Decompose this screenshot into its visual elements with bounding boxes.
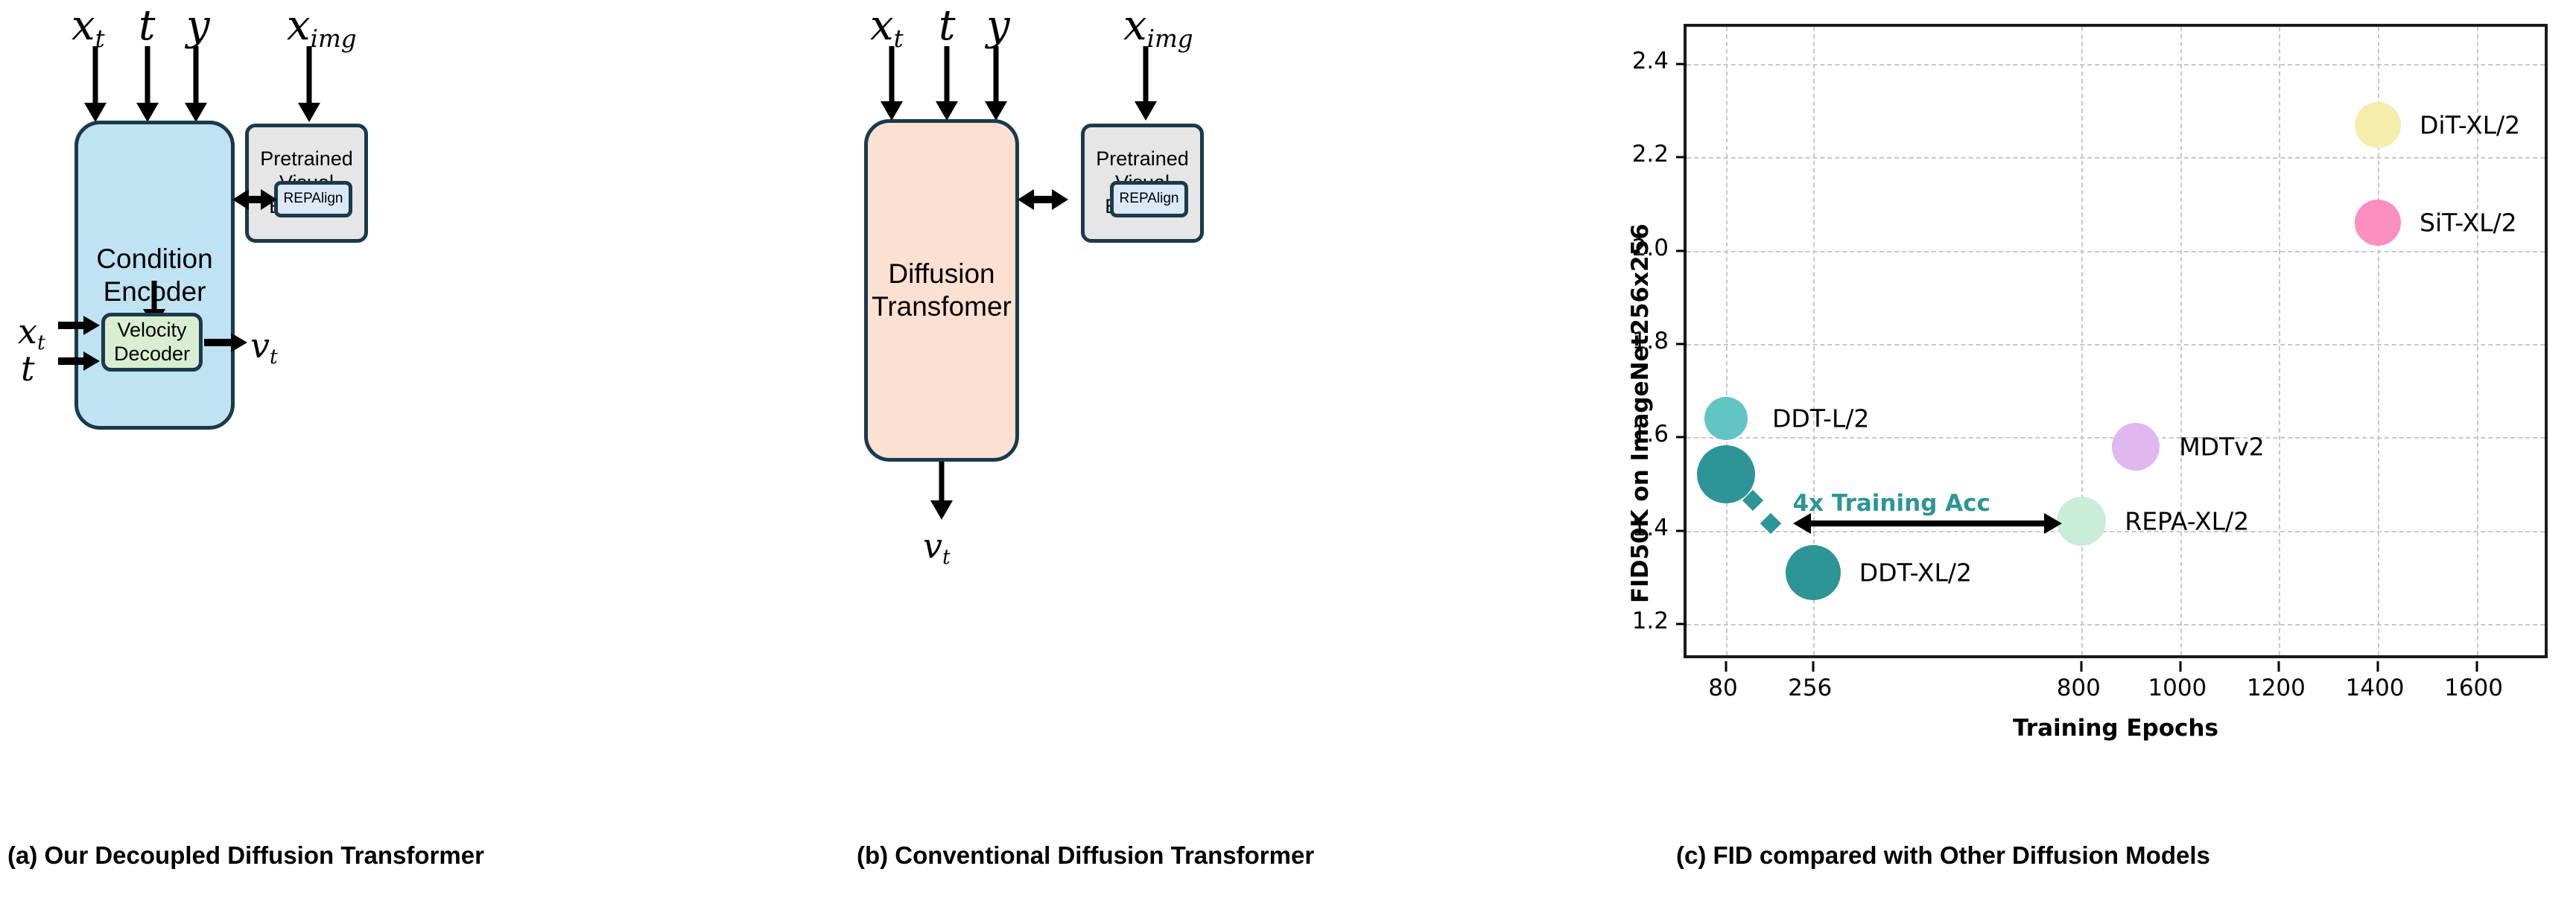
panel-b: xt t y ximg Diffusion Trans	[834, 0, 1602, 898]
arrow-ximg-to-pretrained-encoder-b	[1135, 46, 1157, 121]
ytick-label: 2.2	[1632, 141, 1669, 168]
arrow-t-to-velocity-decoder	[58, 351, 100, 371]
input-label-ximg-b: ximg	[1123, 1, 1193, 50]
repalign-label-b: REPAlign	[1120, 191, 1179, 207]
chart-ylabel: FID50K on ImageNet256x256	[1627, 223, 1654, 603]
gridline-vertical	[2081, 27, 2083, 655]
input-label-ximg-a: ximg	[287, 1, 357, 50]
gridline-vertical	[2279, 27, 2280, 655]
xtick-mark	[1812, 661, 1814, 672]
xtick-label: 80	[1708, 675, 1737, 701]
chart-xlabel: Training Epochs	[2013, 715, 2218, 742]
diffusion-transformer-label-line1: Diffusion	[888, 258, 994, 290]
velocity-decoder-box[interactable]: Velocity Decoder	[101, 313, 203, 372]
caption-panel-b: (b) Conventional Diffusion Transformer	[857, 841, 1314, 870]
ytick-label: 1.8	[1632, 328, 1669, 354]
data-point-ddt-xl-2[interactable]	[1786, 545, 1841, 600]
arrow-xt-to-condition-encoder	[84, 46, 107, 122]
data-point-mdtv2[interactable]	[2112, 423, 2160, 471]
repalign-box-a[interactable]: REPAlign	[274, 181, 352, 217]
chart-plot-area: DDT-L/2DDT-XL/2REPA-XL/2MDTv2DiT-XL/2SiT…	[1684, 24, 2548, 658]
input-label-t-a: t	[139, 1, 156, 50]
xtick-mark	[2081, 661, 2083, 672]
xtick-label: 1600	[2444, 675, 2503, 701]
data-point-label: DiT-XL/2	[2420, 110, 2520, 139]
arrow-condition-encoder-repalign	[232, 189, 277, 210]
data-point-label: DDT-L/2	[1772, 404, 1869, 433]
xtick-label: 1400	[2346, 675, 2405, 701]
ytick-mark	[1676, 529, 1687, 532]
xtick-mark	[2278, 661, 2280, 672]
ytick-label: 1.2	[1632, 608, 1669, 634]
chart-annotation-arrow	[1793, 512, 2062, 535]
pretrained-encoder-label-line1-b: Pretrained	[1096, 147, 1189, 171]
gridline-vertical	[2180, 27, 2182, 655]
gridline-vertical	[1726, 27, 1728, 655]
repalign-box-b[interactable]: REPAlign	[1110, 181, 1188, 217]
data-point-label: SiT-XL/2	[2420, 208, 2517, 238]
input-label-t-b: t	[939, 1, 956, 50]
input-label-xt-b: xt	[870, 1, 904, 50]
data-point-ddt-l-2[interactable]	[1704, 397, 1748, 440]
arrow-xt-to-velocity-decoder	[58, 316, 100, 335]
input-label-y-a: y	[186, 1, 210, 50]
gridline-horizontal	[1687, 344, 2545, 345]
xtick-mark	[2475, 661, 2478, 672]
input-label-xt-a: xt	[72, 1, 105, 50]
xtick-label: 800	[2057, 675, 2101, 701]
data-point-label: DDT-XL/2	[1859, 558, 1972, 587]
gridline-horizontal	[1687, 157, 2545, 159]
panel-a: xt t y ximg Condit	[0, 0, 834, 898]
velocity-decoder-label-line1: Velocity	[117, 319, 186, 343]
arrow-ximg-to-pretrained-encoder	[298, 46, 320, 122]
xtick-label: 1000	[2148, 675, 2207, 701]
caption-panel-a: (a) Our Decoupled Diffusion Transformer	[7, 841, 484, 870]
arrow-diffusion-transformer-to-output	[930, 462, 953, 521]
data-point-repa-xl-2[interactable]	[2057, 497, 2106, 546]
gridline-horizontal	[1687, 251, 2545, 252]
ytick-label: 2.4	[1632, 48, 1669, 74]
ytick-mark	[1676, 63, 1687, 66]
xtick-mark	[2377, 661, 2379, 672]
arrow-diffusion-transformer-repalign	[1018, 189, 1068, 210]
output-label-vt-b: vt	[923, 526, 951, 566]
xtick-label: 1200	[2247, 675, 2306, 701]
xtick-mark	[2179, 661, 2181, 672]
decoder-input-label-xt: xt	[18, 311, 45, 351]
arrow-velocity-decoder-to-output	[204, 333, 247, 352]
ytick-label: 1.4	[1632, 515, 1669, 541]
ytick-mark	[1676, 249, 1687, 252]
condition-encoder-box-main[interactable]: Condition Encoder	[74, 121, 235, 430]
condition-encoder-label-line1: Condition	[96, 243, 212, 276]
data-point-dit-xl-2[interactable]	[2355, 102, 2401, 148]
data-point-label: REPA-XL/2	[2125, 507, 2249, 536]
decoder-input-label-t: t	[21, 348, 35, 389]
data-point-label: MDTv2	[2179, 432, 2265, 461]
ytick-mark	[1676, 343, 1687, 345]
data-point-sit-xl-2[interactable]	[2355, 200, 2401, 246]
pretrained-encoder-label-line1: Pretrained	[260, 147, 353, 171]
velocity-decoder-label-line2: Decoder	[114, 343, 190, 366]
arrow-y-to-diffusion-transformer	[985, 46, 1007, 121]
diffusion-transformer-label-line2: Transfomer	[872, 290, 1012, 323]
gridline-horizontal	[1687, 64, 2545, 66]
output-label-vt-a: vt	[250, 325, 278, 366]
input-label-y-b: y	[986, 1, 1010, 50]
ytick-label: 1.6	[1632, 421, 1669, 448]
arrow-xt-to-diffusion-transformer	[881, 46, 903, 121]
arrow-y-to-condition-encoder	[185, 46, 207, 122]
diffusion-transformer-box[interactable]: Diffusion Transfomer	[864, 119, 1019, 462]
ytick-label: 2.0	[1632, 235, 1669, 261]
figure-root: xt t y ximg Condit	[0, 0, 2576, 898]
arrow-t-to-condition-encoder	[136, 46, 159, 122]
xtick-label: 256	[1788, 675, 1832, 701]
panel-c: DDT-L/2DDT-XL/2REPA-XL/2MDTv2DiT-XL/2SiT…	[1602, 0, 2576, 898]
caption-panel-c: (c) FID compared with Other Diffusion Mo…	[1676, 841, 2210, 870]
ytick-mark	[1676, 436, 1687, 439]
ytick-mark	[1676, 156, 1687, 159]
xtick-mark	[1725, 661, 1728, 672]
arrow-t-to-diffusion-transformer	[936, 46, 958, 121]
gridline-horizontal	[1687, 624, 2545, 625]
ytick-mark	[1676, 622, 1687, 625]
repalign-label-a: REPAlign	[284, 191, 343, 207]
